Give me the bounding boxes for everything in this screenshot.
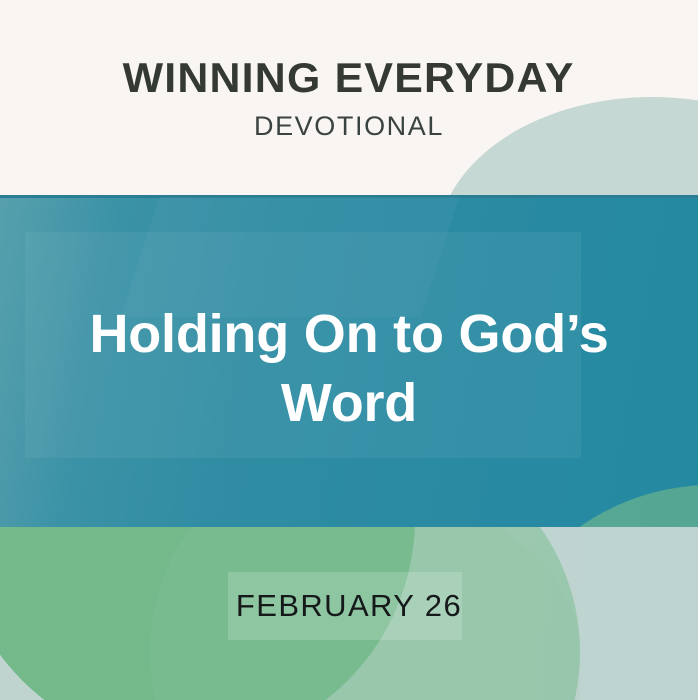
brand-header: WINNING EVERYDAY DEVOTIONAL — [0, 0, 698, 197]
date-area: FEBRUARY 26 — [0, 572, 698, 640]
date-label: FEBRUARY 26 — [236, 588, 462, 624]
devotional-card: WINNING EVERYDAY DEVOTIONAL Holding On t… — [0, 0, 698, 700]
main-title-area: Holding On to God’s Word — [0, 197, 698, 527]
brand-subtitle: DEVOTIONAL — [254, 113, 444, 140]
brand-title: WINNING EVERYDAY — [123, 57, 575, 99]
devotional-title: Holding On to God’s Word — [0, 300, 698, 438]
